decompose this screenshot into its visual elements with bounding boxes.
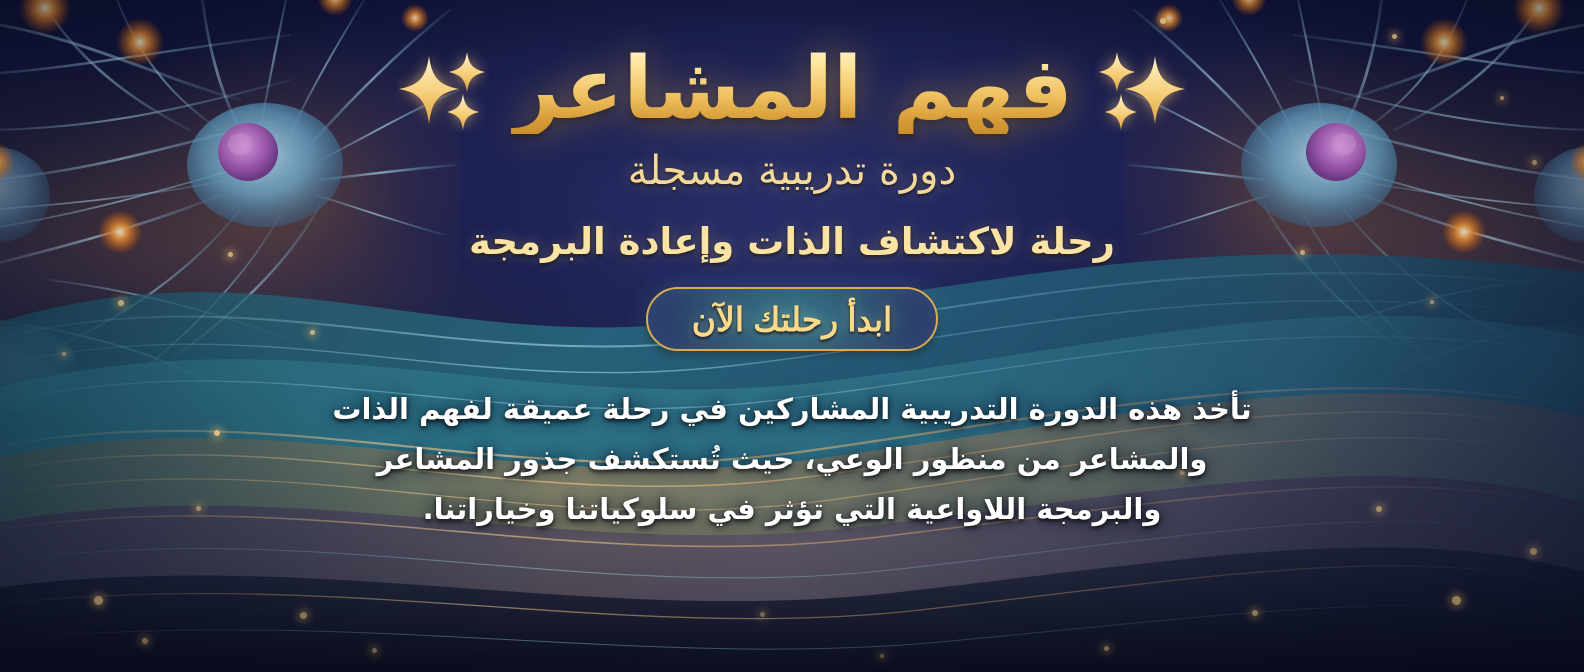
start-journey-button-label: ابدأ رحلتك الآن (692, 300, 892, 339)
description-line: والمشاعر من منظور الوعي، حيث تُستكشف جذو… (287, 435, 1297, 485)
description-line: والبرمجة اللاواعية التي تؤثر في سلوكياتن… (287, 485, 1297, 535)
banner-content: فهم المشاعر دورة تدريبية مسجلة رحلة لاكت… (0, 0, 1584, 672)
page-title: فهم المشاعر (511, 44, 1073, 134)
course-description: تأخذ هذه الدورة التدريبية المشاركين في ر… (287, 385, 1297, 535)
start-journey-button[interactable]: ابدأ رحلتك الآن (646, 287, 938, 351)
description-line: تأخذ هذه الدورة التدريبية المشاركين في ر… (287, 385, 1297, 435)
course-promo-banner: فهم المشاعر دورة تدريبية مسجلة رحلة لاكت… (0, 0, 1584, 672)
title-row: فهم المشاعر (397, 44, 1187, 134)
course-subtitle: دورة تدريبية مسجلة (628, 148, 957, 194)
sparkle-cluster-left-icon (397, 46, 489, 132)
sparkle-cluster-right-icon (1095, 46, 1187, 132)
course-tagline: رحلة لاكتشاف الذات وإعادة البرمجة (469, 220, 1115, 263)
